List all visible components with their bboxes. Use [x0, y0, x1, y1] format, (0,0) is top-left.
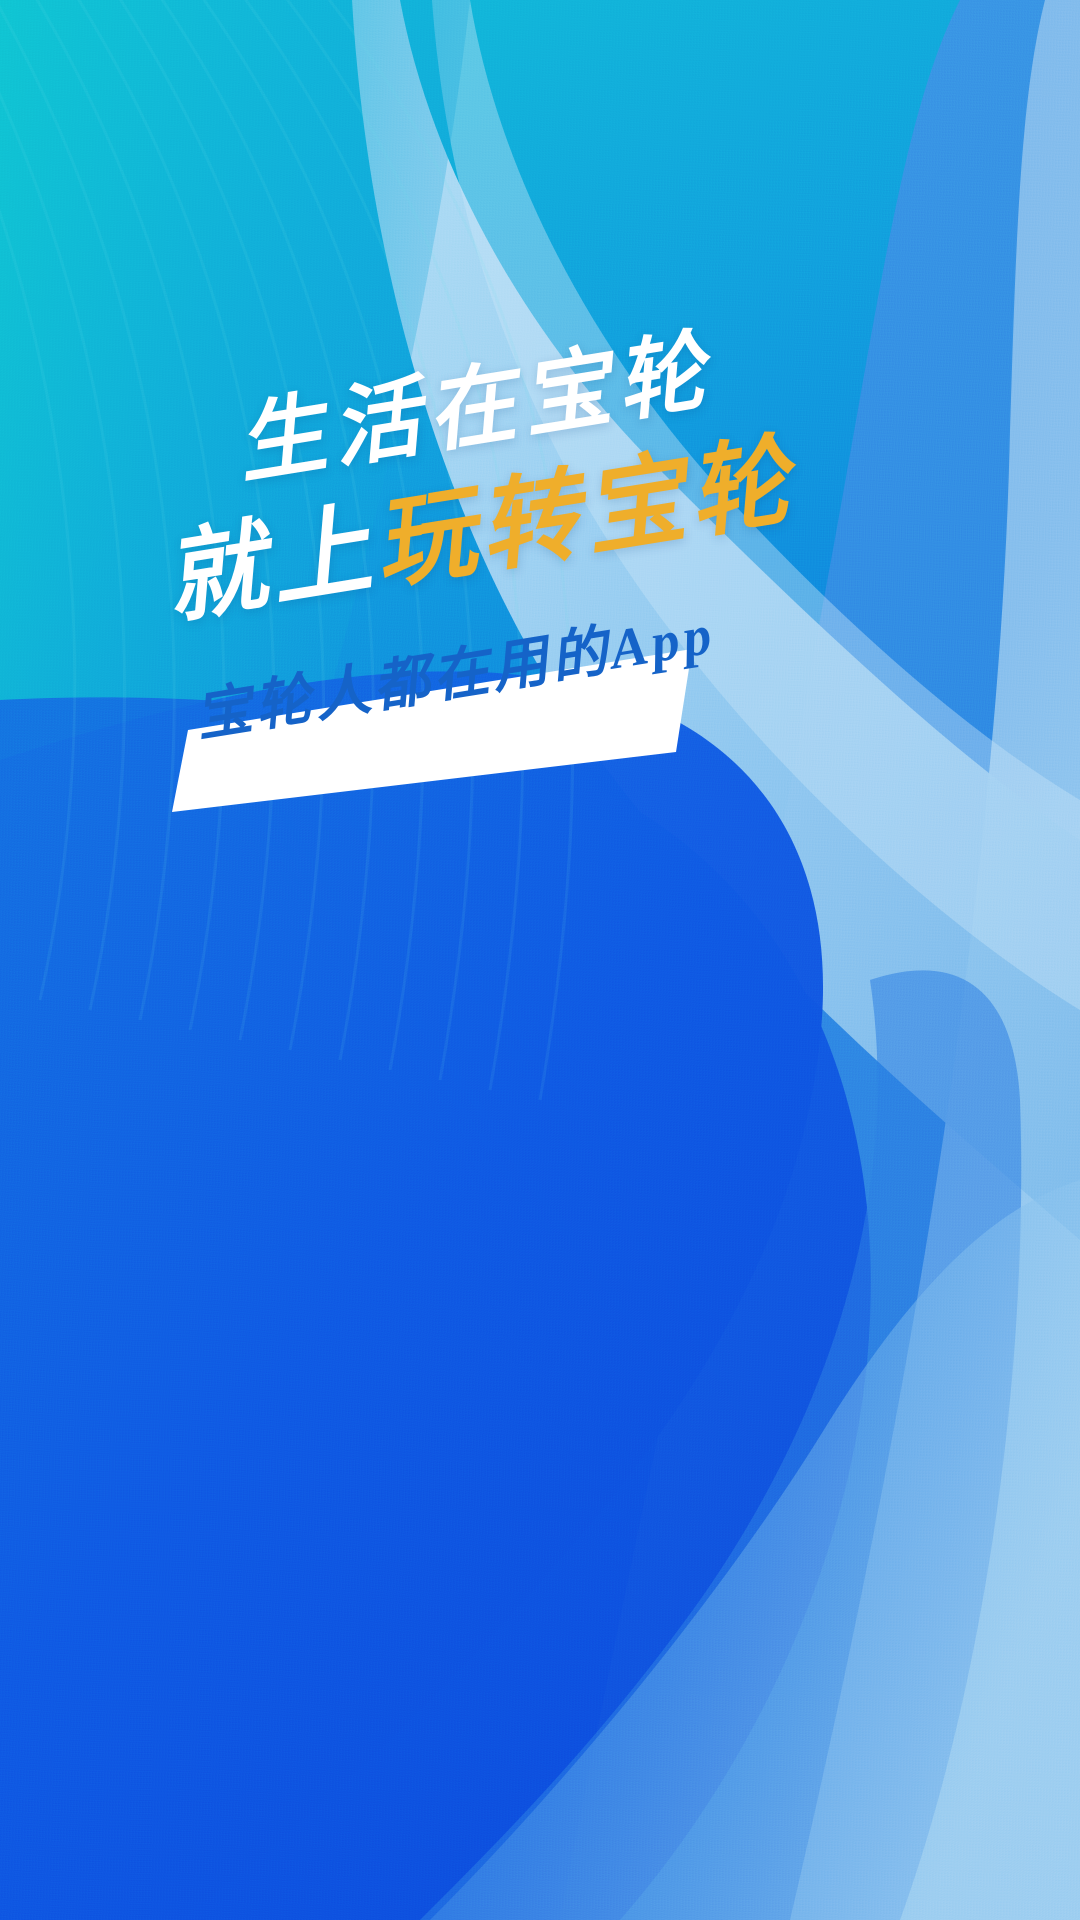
hero-line-2-white: 就上: [157, 493, 384, 636]
splash-screen: 生活在宝轮 就上玩转宝轮 宝轮人都在用的App: [0, 0, 1080, 1920]
banner-subtitle-text: 宝轮人都在用的App: [192, 606, 720, 745]
hero-text-block: 生活在宝轮 就上玩转宝轮 宝轮人都在用的App: [0, 0, 1080, 1920]
